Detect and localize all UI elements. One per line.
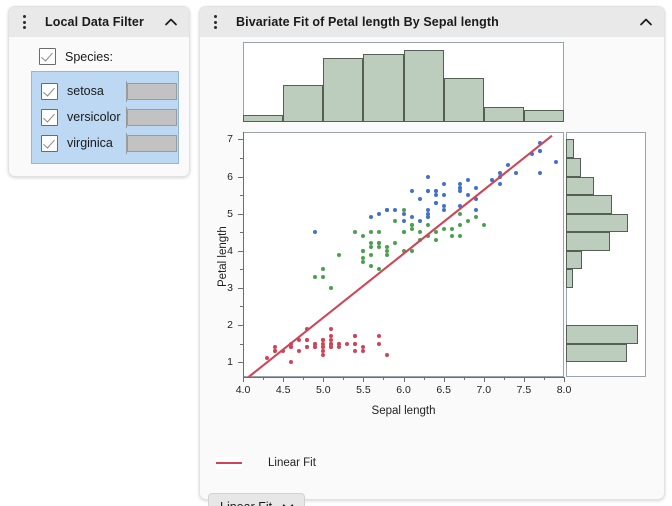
- app-root: Local Data Filter Species: setosa versic…: [0, 0, 672, 506]
- linear-fit-button-label: Linear Fit: [220, 500, 272, 506]
- list-item[interactable]: versicolor: [32, 104, 178, 130]
- bivariate-plot: 4.04.55.05.56.06.57.07.58.01234567 Sepal…: [200, 37, 664, 499]
- versicolor-count-bar: [126, 109, 178, 126]
- kebab-menu-icon[interactable]: [208, 13, 222, 31]
- bar-fill: [127, 83, 177, 100]
- chevron-up-icon[interactable]: [163, 14, 179, 30]
- local-data-filter-panel: Local Data Filter Species: setosa versic…: [8, 6, 190, 177]
- page-title: Bivariate Fit of Petal length By Sepal l…: [236, 15, 499, 29]
- setosa-label: setosa: [67, 84, 126, 98]
- y-axis-title: Petal length: [217, 226, 229, 287]
- versicolor-checkbox[interactable]: [41, 109, 58, 126]
- kebab-menu-icon[interactable]: [17, 13, 31, 31]
- bar-fill: [127, 135, 177, 152]
- x-axis-title: Sepal length: [372, 405, 436, 417]
- filter-column-row[interactable]: Species:: [39, 48, 189, 65]
- filter-panel-title: Local Data Filter: [45, 15, 144, 29]
- legend-line-swatch: [216, 457, 242, 469]
- legend: Linear Fit: [216, 457, 316, 469]
- list-item[interactable]: setosa: [32, 78, 178, 104]
- chevron-up-icon[interactable]: [638, 14, 654, 30]
- bivariate-fit-panel: Bivariate Fit of Petal length By Sepal l…: [199, 6, 665, 500]
- legend-label: Linear Fit: [268, 457, 316, 469]
- virginica-label: virginica: [67, 136, 126, 150]
- chart-panel-header: Bivariate Fit of Petal length By Sepal l…: [200, 7, 664, 37]
- bar-fill: [127, 109, 177, 126]
- virginica-count-bar: [126, 135, 178, 152]
- list-item[interactable]: virginica: [32, 130, 178, 156]
- species-column-label: Species:: [65, 50, 113, 64]
- setosa-count-bar: [126, 83, 178, 100]
- chevron-down-icon: [281, 500, 295, 506]
- linear-fit-dropdown-button[interactable]: Linear Fit: [208, 493, 305, 506]
- versicolor-label: versicolor: [67, 110, 126, 124]
- linear-fit-line: [200, 37, 664, 499]
- setosa-checkbox[interactable]: [41, 83, 58, 100]
- species-value-list: setosa versicolor virginica: [31, 71, 179, 164]
- species-column-checkbox[interactable]: [39, 48, 56, 65]
- filter-panel-header: Local Data Filter: [9, 7, 189, 37]
- virginica-checkbox[interactable]: [41, 135, 58, 152]
